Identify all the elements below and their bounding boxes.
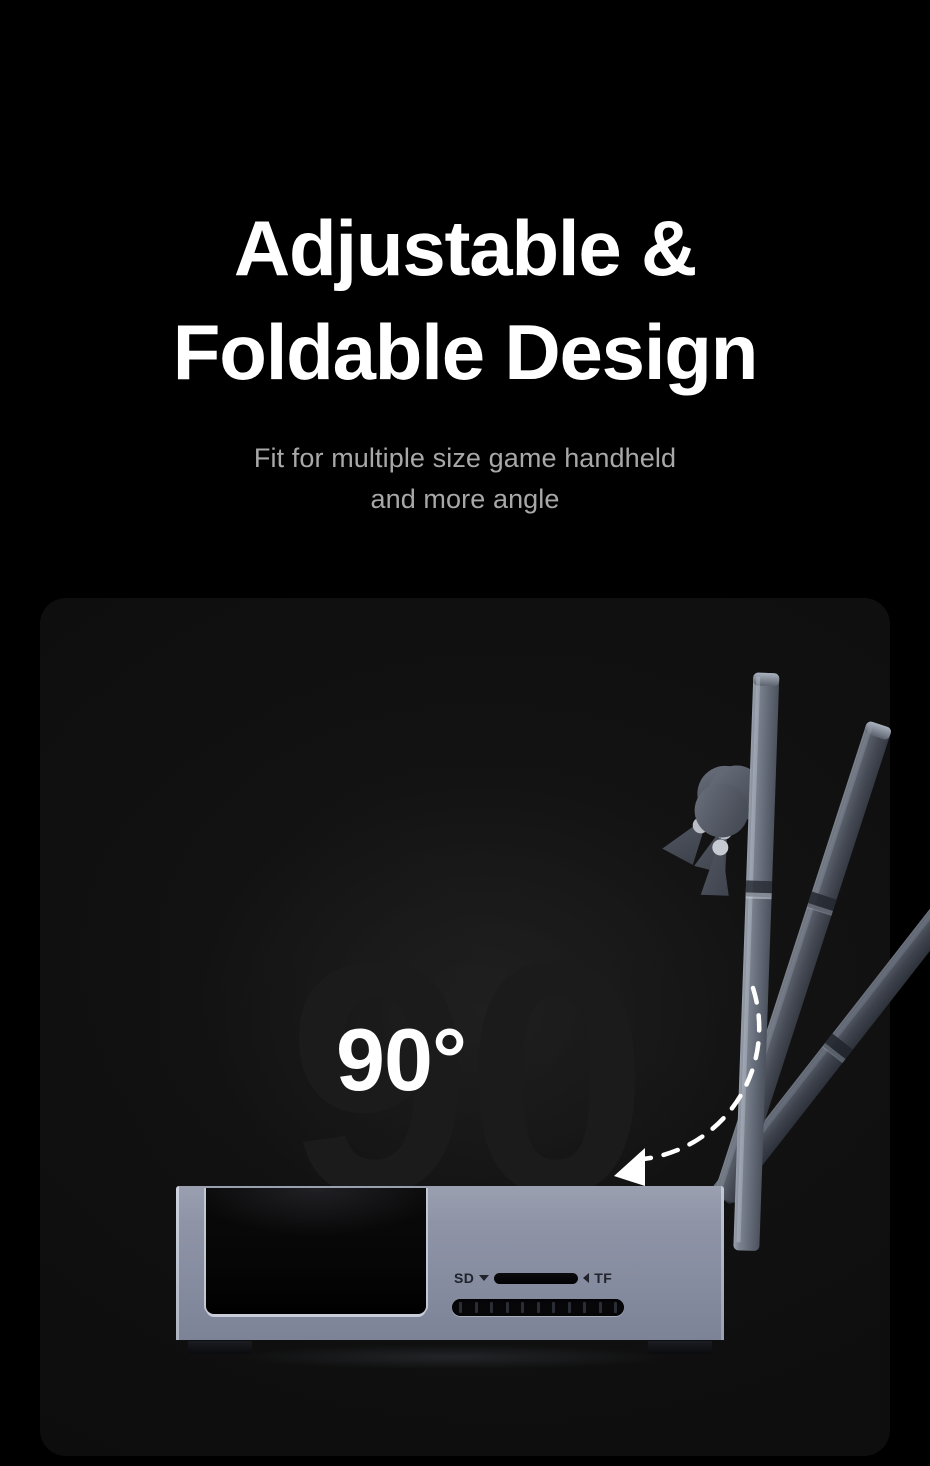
- dock-base: SD TF: [176, 1186, 724, 1354]
- sd-slot-label: SD: [454, 1270, 474, 1286]
- vent-slat: [552, 1302, 555, 1313]
- vent-slat: [599, 1302, 602, 1313]
- tf-slot-label: TF: [594, 1270, 612, 1286]
- device-cradle-slot: [206, 1188, 426, 1314]
- card-reader-row: SD TF: [454, 1268, 644, 1288]
- vent-slat: [506, 1302, 509, 1313]
- vent-slat: [568, 1302, 571, 1313]
- memory-card-slot[interactable]: [494, 1273, 578, 1284]
- vent-grille: [452, 1299, 624, 1316]
- product-feature-page: Adjustable & Foldable Design Fit for mul…: [0, 0, 930, 1466]
- vent-slat: [583, 1302, 586, 1313]
- vent-slat: [475, 1302, 478, 1313]
- vent-slat: [614, 1302, 617, 1313]
- vent-slat: [537, 1302, 540, 1313]
- dock-body: SD TF: [176, 1186, 724, 1340]
- vent-slat: [521, 1302, 524, 1313]
- triangle-left-icon: [583, 1273, 589, 1283]
- dock-foot-right: [648, 1341, 712, 1354]
- angle-label: 90°: [336, 1016, 466, 1104]
- vent-slat: [459, 1302, 462, 1313]
- cradle-inner-shadow: [206, 1188, 426, 1314]
- dock-foot-left: [188, 1341, 252, 1354]
- triangle-down-icon: [479, 1275, 489, 1281]
- vent-slat: [490, 1302, 493, 1313]
